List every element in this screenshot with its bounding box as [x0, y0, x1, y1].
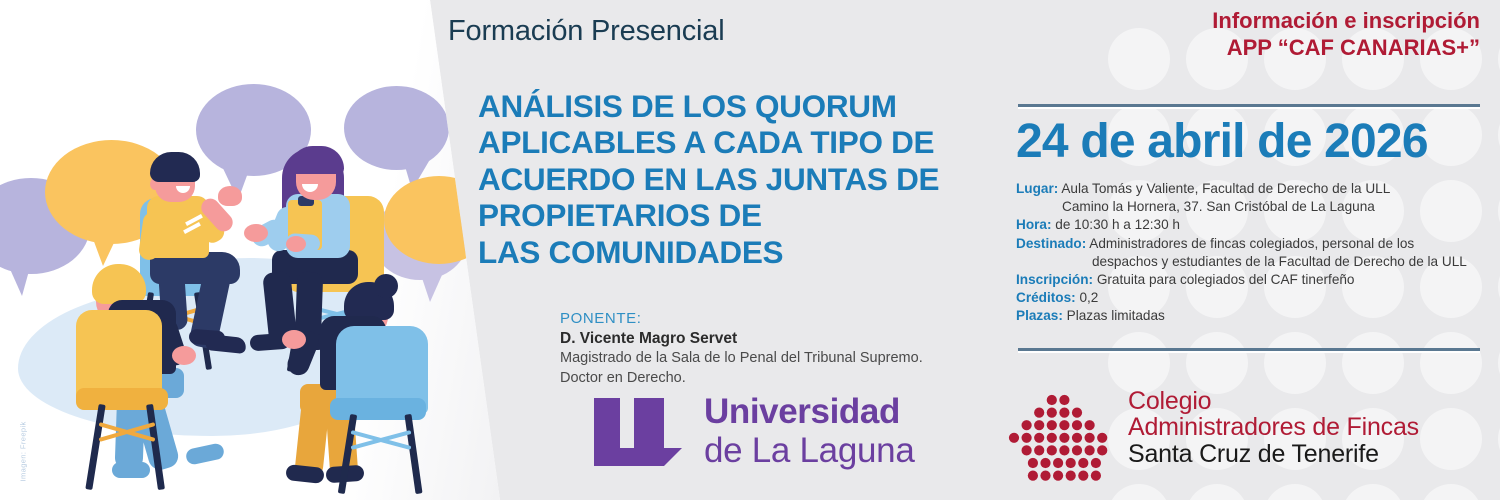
ull-logo-text: Universidad de La Laguna [704, 394, 915, 468]
speaker-role-line-2: Doctor en Derecho. [560, 369, 980, 388]
event-detail-row: Créditos: 0,2 [1016, 289, 1494, 307]
background-circle [1420, 484, 1482, 500]
speaker-label: PONENTE: [560, 310, 980, 327]
background-circle [1186, 332, 1248, 394]
title-line-1: ANÁLISIS DE LOS QUORUM [478, 88, 988, 124]
app-title-line-2: APP “CAF CANARIAS+” [1000, 35, 1480, 62]
caf-logo-text: Colegio Administradores de Fincas Santa … [1128, 388, 1419, 467]
person-b-hand [244, 224, 268, 242]
title-line-5: LAS COMUNIDADES [478, 234, 988, 270]
event-detail-label: Créditos: [1016, 290, 1076, 305]
caf-mark-icon [1008, 392, 1112, 492]
event-detail-value: Gratuita para colegiados del CAF tinerfe… [1093, 272, 1354, 287]
person-c-shoe [112, 462, 150, 478]
event-detail-value: 0,2 [1076, 290, 1099, 305]
event-detail-row: Destinado: Administradores de fincas col… [1016, 235, 1494, 271]
title-line-3: ACUERDO EN LAS JUNTAS DE [478, 161, 988, 197]
event-detail-continuation: Camino la Hornera, 37. San Cristóbal de … [1016, 198, 1494, 216]
caf-line-1: Colegio [1128, 388, 1419, 414]
event-detail-continuation: despachos y estudiantes de la Facultad d… [1016, 253, 1494, 271]
person-c-hand [172, 346, 196, 365]
background-circle [1108, 332, 1170, 394]
background-circle [1420, 332, 1482, 394]
event-detail-label: Inscripción: [1016, 272, 1093, 287]
event-detail-row: Lugar: Aula Tomás y Valiente, Facultad d… [1016, 180, 1494, 216]
person-a-hand [218, 186, 242, 206]
speaker-name: D. Vicente Magro Servet [560, 330, 980, 348]
person-a-hair [150, 152, 200, 182]
course-format-kicker: Formación Presencial [448, 15, 724, 48]
event-detail-row: Inscripción: Gratuita para colegiados de… [1016, 271, 1494, 289]
event-detail-value: Aula Tomás y Valiente, Facultad de Derec… [1058, 181, 1390, 196]
ull-line-2: de La Laguna [704, 433, 915, 468]
poster-root: Imagen: Freepik Formación Presencial ANÁ… [0, 0, 1500, 500]
event-detail-label: Plazas: [1016, 308, 1063, 323]
event-details-list: Lugar: Aula Tomás y Valiente, Facultad d… [1016, 180, 1494, 326]
event-date: 24 de abril de 2026 [1016, 114, 1428, 169]
background-circle [1264, 332, 1326, 394]
event-detail-label: Destinado: [1016, 236, 1086, 251]
ull-logo: Universidad de La Laguna [590, 392, 915, 470]
speaker-role-line-1: Magistrado de la Sala de lo Penal del Tr… [560, 349, 980, 368]
title-line-2: APLICABLES A CADA TIPO DE [478, 124, 988, 160]
background-circle [1342, 332, 1404, 394]
ull-line-1: Universidad [704, 394, 915, 429]
caf-logo: Colegio Administradores de Fincas Santa … [1008, 388, 1419, 492]
illustration-panel: Imagen: Freepik [0, 0, 500, 500]
main-text-column: Formación Presencial ANÁLISIS DE LOS QUO… [430, 0, 1000, 500]
image-credit: Imagen: Freepik [19, 392, 28, 482]
divider-top [1018, 104, 1480, 109]
page-title: ANÁLISIS DE LOS QUORUM APLICABLES A CADA… [478, 88, 988, 270]
chair-seat-person-c [76, 388, 168, 410]
person-d-hair-bun [374, 274, 398, 298]
speaker-block: PONENTE: D. Vicente Magro Servet Magistr… [560, 310, 980, 388]
background-circle [1420, 104, 1482, 166]
event-detail-row: Hora: de 10:30 h a 12:30 h [1016, 216, 1494, 234]
app-title-line-1: Información e inscripción [1000, 8, 1480, 35]
person-d-hand [282, 330, 306, 349]
caf-line-2: Administradores de Fincas [1128, 414, 1419, 440]
event-detail-value: Plazas limitadas [1063, 308, 1165, 323]
event-detail-value: Administradores de fincas colegiados, pe… [1086, 236, 1414, 251]
background-circle [1420, 408, 1482, 470]
event-detail-label: Hora: [1016, 217, 1052, 232]
event-detail-row: Plazas: Plazas limitadas [1016, 307, 1494, 325]
divider-bottom [1018, 348, 1480, 353]
event-detail-value: de 10:30 h a 12:30 h [1052, 217, 1181, 232]
ull-mark-icon [590, 392, 686, 470]
caf-line-3: Santa Cruz de Tenerife [1128, 441, 1419, 467]
info-column: Información e inscripción APP “CAF CANAR… [1000, 0, 1500, 500]
title-line-4: PROPIETARIOS DE [478, 197, 988, 233]
app-registration-title: Información e inscripción APP “CAF CANAR… [1000, 8, 1480, 62]
event-detail-label: Lugar: [1016, 181, 1058, 196]
person-b-hand [286, 236, 306, 252]
